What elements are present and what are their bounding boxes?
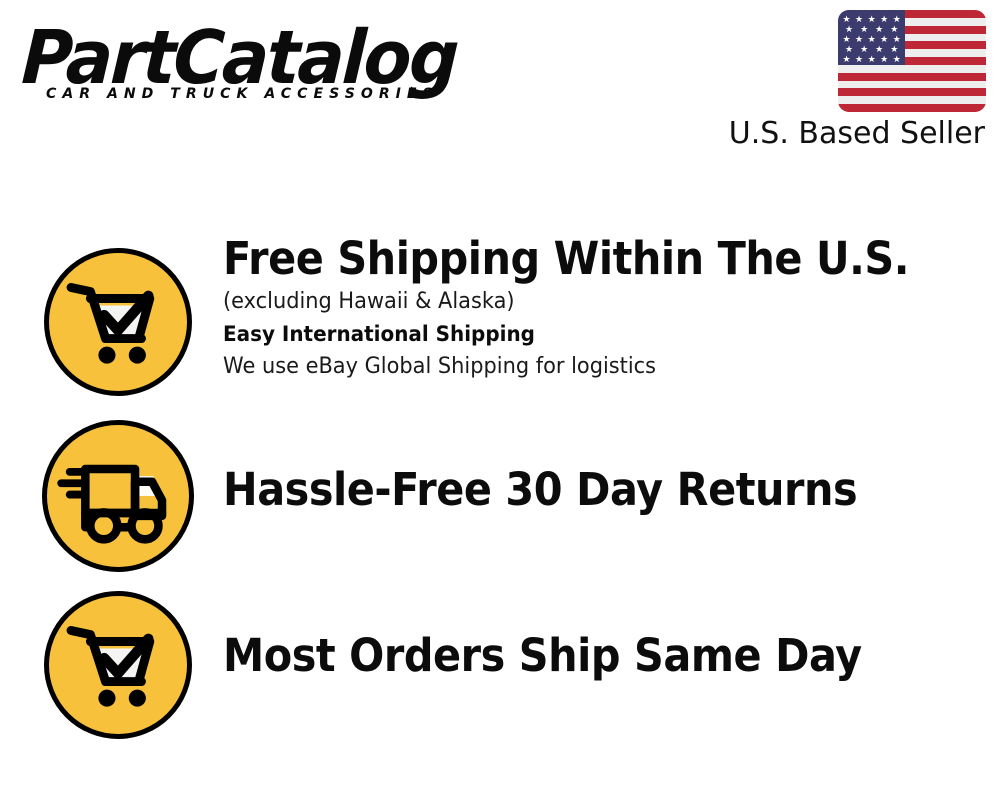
feature-text-returns: Hassle-Free 30 Day Returns xyxy=(223,463,990,517)
feature-subheading-detail: We use eBay Global Shipping for logistic… xyxy=(223,351,952,383)
shopping-cart-check-icon xyxy=(44,248,192,396)
flag-canton: ★★★★★ ★★★★ ★★★★★ ★★★★ ★★★★★ xyxy=(838,10,905,65)
delivery-truck-icon xyxy=(42,420,194,572)
brand-logo: PartCatalog xyxy=(22,18,492,118)
brand-tagline: CAR AND TRUCK ACCESSORIES xyxy=(46,86,439,102)
feature-subline: (excluding Hawaii & Alaska) xyxy=(223,286,952,318)
us-based-seller-label: U.S. Based Seller xyxy=(585,117,985,151)
feature-text-same-day: Most Orders Ship Same Day xyxy=(223,629,990,683)
feature-headline: Free Shipping Within The U.S. xyxy=(223,232,929,286)
feature-headline: Hassle-Free 30 Day Returns xyxy=(223,463,929,517)
shopping-cart-check-icon xyxy=(44,591,192,739)
promo-banner: PartCatalog CAR AND TRUCK ACCESSORIES ★★… xyxy=(0,0,1000,800)
feature-subheading: Easy International Shipping xyxy=(223,318,952,351)
feature-row-free-shipping: Free Shipping Within The U.S. (excluding… xyxy=(0,240,1000,415)
us-flag-icon: ★★★★★ ★★★★ ★★★★★ ★★★★ ★★★★★ xyxy=(838,10,986,112)
feature-row-same-day: Most Orders Ship Same Day xyxy=(0,585,1000,755)
feature-headline: Most Orders Ship Same Day xyxy=(223,629,929,683)
feature-row-returns: Hassle-Free 30 Day Returns xyxy=(0,415,1000,580)
feature-text-free-shipping: Free Shipping Within The U.S. (excluding… xyxy=(223,232,990,383)
